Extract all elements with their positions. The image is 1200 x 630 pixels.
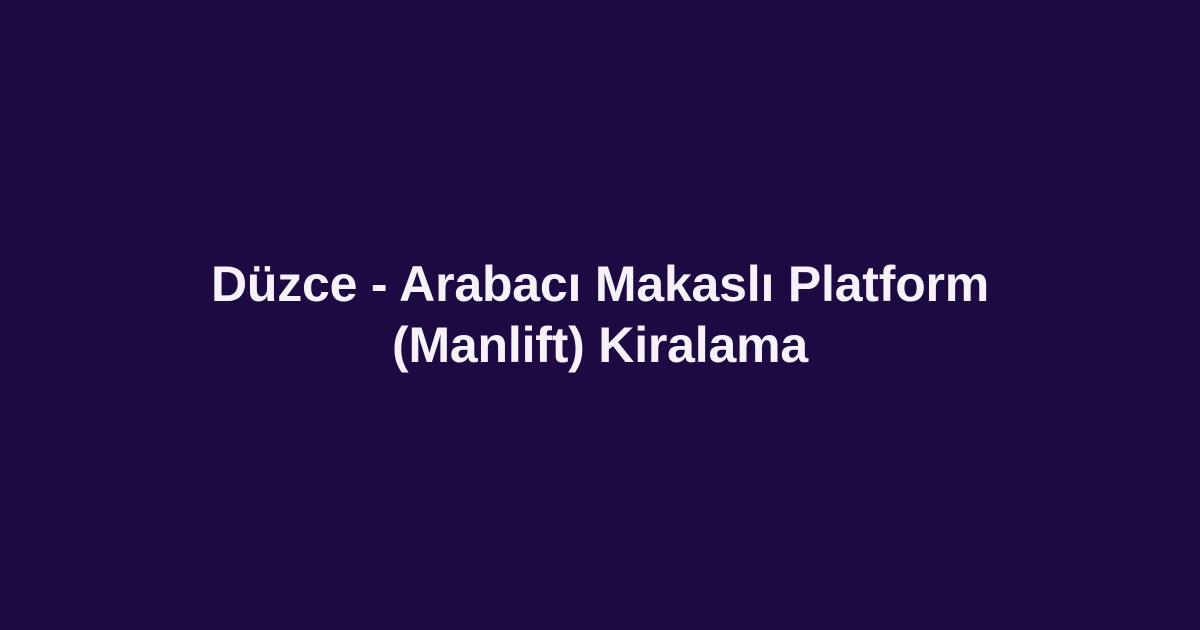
page-title: Düzce - Arabacı Makaslı Platform (Manlif… xyxy=(160,254,1040,376)
card-content-wrapper: Düzce - Arabacı Makaslı Platform (Manlif… xyxy=(0,254,1200,376)
social-preview-card: Düzce - Arabacı Makaslı Platform (Manlif… xyxy=(0,0,1200,630)
